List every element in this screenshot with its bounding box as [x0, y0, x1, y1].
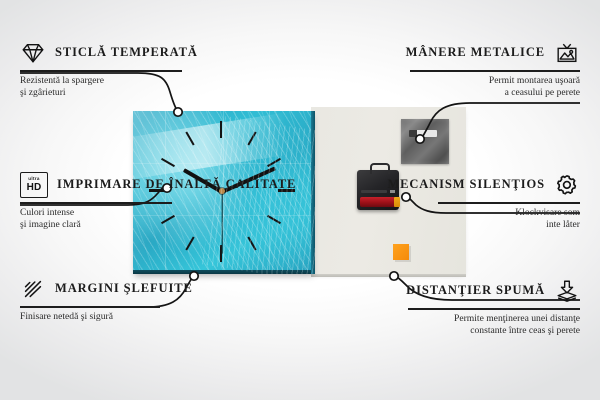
hour-marker — [267, 215, 281, 224]
picture-hanger-icon — [554, 40, 580, 66]
foam-spacer-icon — [554, 278, 580, 304]
callout-subtitle: Klockvisare sominte låter — [438, 207, 580, 232]
callout-rule — [410, 70, 580, 72]
hour-marker — [247, 132, 256, 146]
callout-rule — [20, 70, 182, 72]
diamond-icon — [20, 40, 46, 66]
foam-spacer-part — [393, 244, 409, 260]
battery-terminal — [394, 197, 400, 207]
callout-subtitle: Culori intenseşi imagine clară — [20, 207, 172, 232]
hour-marker — [185, 237, 194, 251]
hour-marker — [220, 245, 222, 262]
callout-rule — [438, 202, 580, 204]
glass-sheen — [133, 111, 315, 181]
callout-polished-edges: MARGINI ŞLEFUITE Finisare netedă şi sigu… — [20, 276, 160, 323]
callout-subtitle: Permite menţinerea unei distanţeconstant… — [408, 313, 580, 338]
hour-marker — [220, 121, 222, 138]
callout-title: MECANISM SILENŢIOS — [387, 177, 545, 192]
movement-detail — [361, 190, 387, 193]
callout-title: IMPRIMARE DE ÎNALTĂ CALITATE — [57, 177, 296, 192]
movement-hook — [370, 163, 390, 174]
callout-title: STICLĂ TEMPERATĂ — [55, 45, 198, 60]
callout-title: MÂNERE METALICE — [406, 45, 545, 60]
battery — [360, 197, 396, 207]
clock-bottom-edge — [133, 270, 315, 274]
callout-tempered-glass: STICLĂ TEMPERATĂ Rezistentă la spargereş… — [20, 40, 182, 100]
metal-hanger-bracket — [401, 119, 449, 164]
clock-right-edge — [311, 111, 315, 274]
callout-rule — [20, 202, 172, 204]
callout-hd-print: ultra HD IMPRIMARE DE ÎNALTĂ CALITATE Cu… — [20, 172, 172, 232]
callout-metal-handles: MÂNERE METALICE Permit montarea uşoarăa … — [410, 40, 580, 100]
hd-label: HD — [27, 183, 42, 193]
hanger-slot — [409, 130, 437, 137]
second-hand — [221, 192, 222, 254]
callout-silent-mechanism: MECANISM SILENŢIOS Klockvisare sominte l… — [438, 172, 580, 232]
callout-foam-spacer: DISTANŢIER SPUMĂ Permite menţinerea unei… — [408, 278, 580, 338]
infographic-canvas: STICLĂ TEMPERATĂ Rezistentă la spargereş… — [0, 0, 600, 400]
callout-title: DISTANŢIER SPUMĂ — [406, 283, 545, 298]
hour-marker — [247, 237, 256, 251]
ultra-hd-icon: ultra HD — [20, 172, 48, 198]
callout-subtitle: Finisare netedă şi sigură — [20, 311, 160, 324]
callout-rule — [408, 308, 580, 310]
polished-edges-icon — [20, 276, 46, 302]
callout-title: MARGINI ŞLEFUITE — [55, 281, 193, 296]
hour-marker — [267, 158, 281, 167]
callout-rule — [20, 306, 160, 308]
gear-icon — [554, 172, 580, 198]
callout-subtitle: Rezistentă la spargereşi zgârieturi — [20, 75, 182, 100]
callout-subtitle: Permit montarea uşoarăa ceasului pe pere… — [410, 75, 580, 100]
